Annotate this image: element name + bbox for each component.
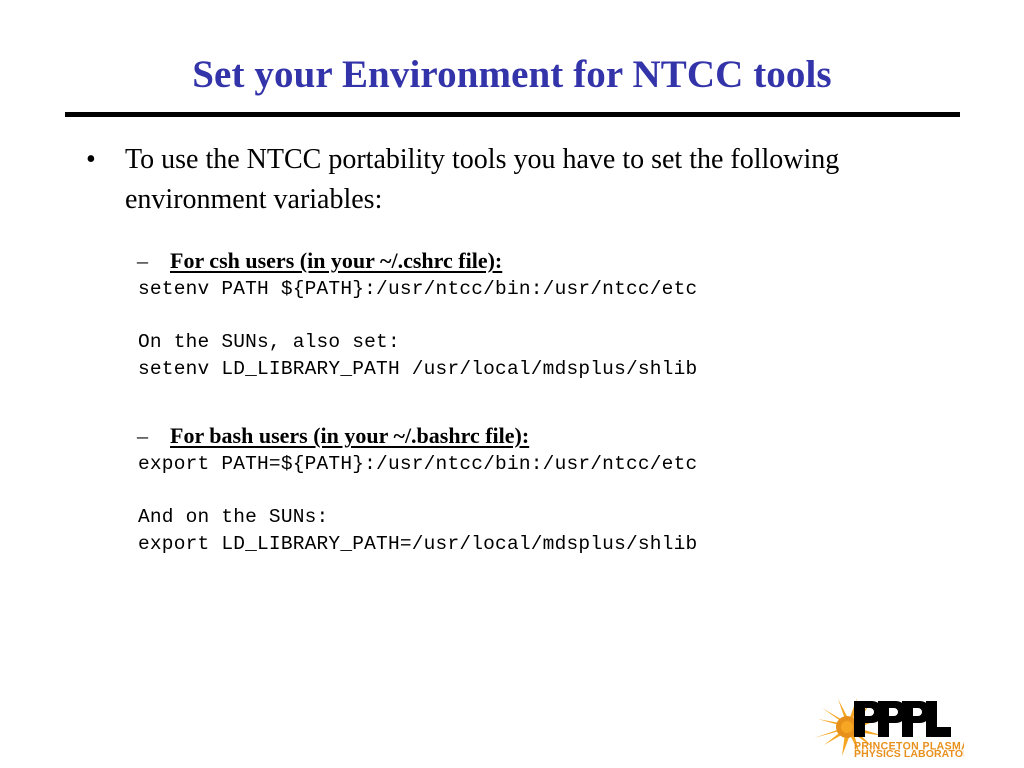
dash-marker-icon: –	[137, 421, 148, 451]
section-heading-csh: – For csh users (in your ~/.cshrc file):	[0, 246, 1024, 276]
page-title: Set your Environment for NTCC tools	[64, 52, 960, 98]
code-line-csh-ldlibrarypath: setenv LD_LIBRARY_PATH /usr/local/mdsplu…	[0, 356, 1024, 383]
bullet-marker-icon: •	[86, 140, 96, 180]
code-line-bash-path: export PATH=${PATH}:/usr/ntcc/bin:/usr/n…	[0, 451, 1024, 478]
pppl-logo: PRINCETON PLASMA PHYSICS LABORATORY	[812, 697, 964, 759]
section-heading-label-bash: For bash users (in your ~/.bashrc file):	[170, 423, 529, 448]
slide-canvas: Set your Environment for NTCC tools • To…	[0, 0, 1024, 768]
title-block: Set your Environment for NTCC tools	[64, 52, 960, 98]
code-line-csh-path: setenv PATH ${PATH}:/usr/ntcc/bin:/usr/n…	[0, 276, 1024, 303]
section-heading-bash: – For bash users (in your ~/.bashrc file…	[0, 421, 1024, 451]
code-line-bash-ldlibrarypath: export LD_LIBRARY_PATH=/usr/local/mdsplu…	[0, 531, 1024, 558]
bullet-item-primary: • To use the NTCC portability tools you …	[0, 140, 1024, 220]
section-heading-label-csh: For csh users (in your ~/.cshrc file):	[170, 248, 502, 273]
spacer	[0, 383, 1024, 421]
dash-marker-icon: –	[137, 246, 148, 276]
spacer	[0, 303, 1024, 329]
bullet-text-primary: To use the NTCC portability tools you ha…	[125, 140, 964, 220]
title-divider	[65, 112, 960, 117]
code-note-bash-suns: And on the SUNs:	[0, 504, 1024, 531]
spacer	[0, 478, 1024, 504]
pppl-tagline-line2: PHYSICS LABORATORY	[854, 748, 964, 759]
slide-body: • To use the NTCC portability tools you …	[0, 140, 1024, 558]
code-note-csh-suns: On the SUNs, also set:	[0, 329, 1024, 356]
spacer	[0, 220, 1024, 246]
